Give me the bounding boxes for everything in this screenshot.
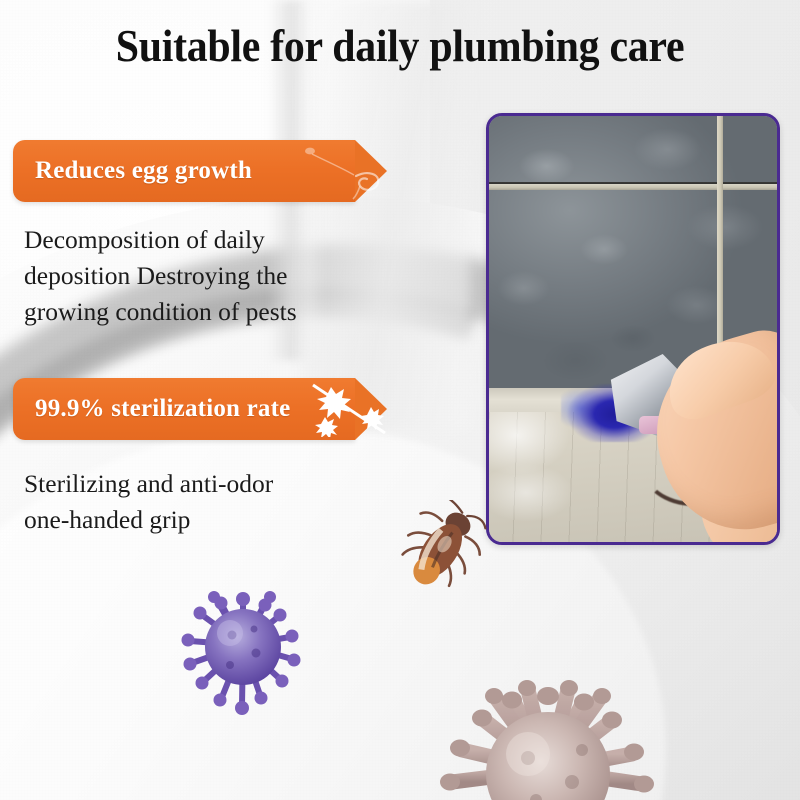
photo-grout-line-h	[489, 184, 777, 190]
virus-purple-illustration	[168, 585, 318, 720]
feature-banner-2-label: 99.9% sterilization rate	[13, 395, 290, 423]
feature-banner-1: Reduces egg growth	[13, 140, 252, 202]
product-feature-poster: Suitable for daily plumbing care	[0, 0, 800, 800]
cockroach-illustration	[399, 500, 489, 590]
banner-arrow-tip	[355, 378, 387, 440]
virus-tan-illustration	[432, 662, 664, 800]
feature-2-description: Sterilizing and anti-odor one-handed gri…	[24, 466, 273, 538]
banner-arrow-tip	[355, 140, 387, 202]
feature-1-description: Decomposition of daily deposition Destro…	[24, 222, 297, 330]
page-title: Suitable for daily plumbing care	[28, 22, 772, 72]
feature-banner-2: 99.9% sterilization rate	[13, 378, 290, 440]
tile-cleaning-photo	[486, 113, 780, 545]
feature-banner-1-label: Reduces egg growth	[13, 157, 252, 185]
